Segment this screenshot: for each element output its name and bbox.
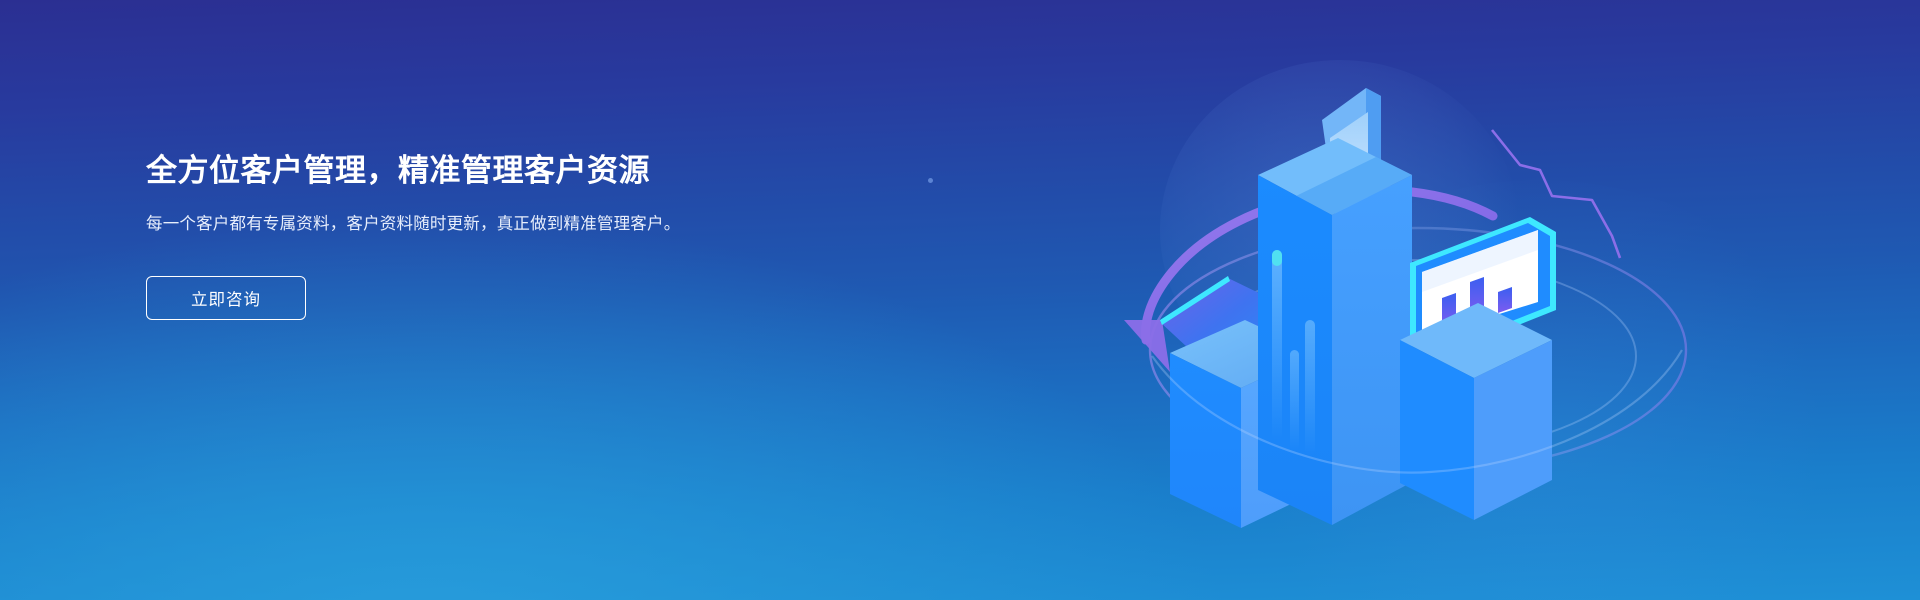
- consult-now-button[interactable]: 立即咨询: [146, 276, 306, 320]
- pillar-inner-bar-2: [1290, 350, 1299, 450]
- curved-arrow-left-head: [1124, 320, 1170, 372]
- page-title: 全方位客户管理，精准管理客户资源: [146, 152, 806, 189]
- center-pillar-group: [1258, 88, 1412, 525]
- hero-illustration: [1100, 20, 1740, 590]
- pillar-inner-bar-3: [1305, 320, 1315, 455]
- pillar-inner-bar-1: [1272, 250, 1282, 440]
- right-pillar-group: [1400, 217, 1556, 520]
- background-sparkle-dot: [928, 178, 933, 183]
- center-pillar-front: [1258, 175, 1332, 525]
- hero-description: 每一个客户都有专属资料，客户资料随时更新，真正做到精准管理客户。: [146, 211, 736, 238]
- hero-copy: 全方位客户管理，精准管理客户资源 每一个客户都有专属资料，客户资料随时更新，真正…: [146, 152, 806, 320]
- hero-banner: 全方位客户管理，精准管理客户资源 每一个客户都有专属资料，客户资料随时更新，真正…: [0, 0, 1920, 600]
- pillar-inner-bar-1-cap: [1272, 250, 1282, 266]
